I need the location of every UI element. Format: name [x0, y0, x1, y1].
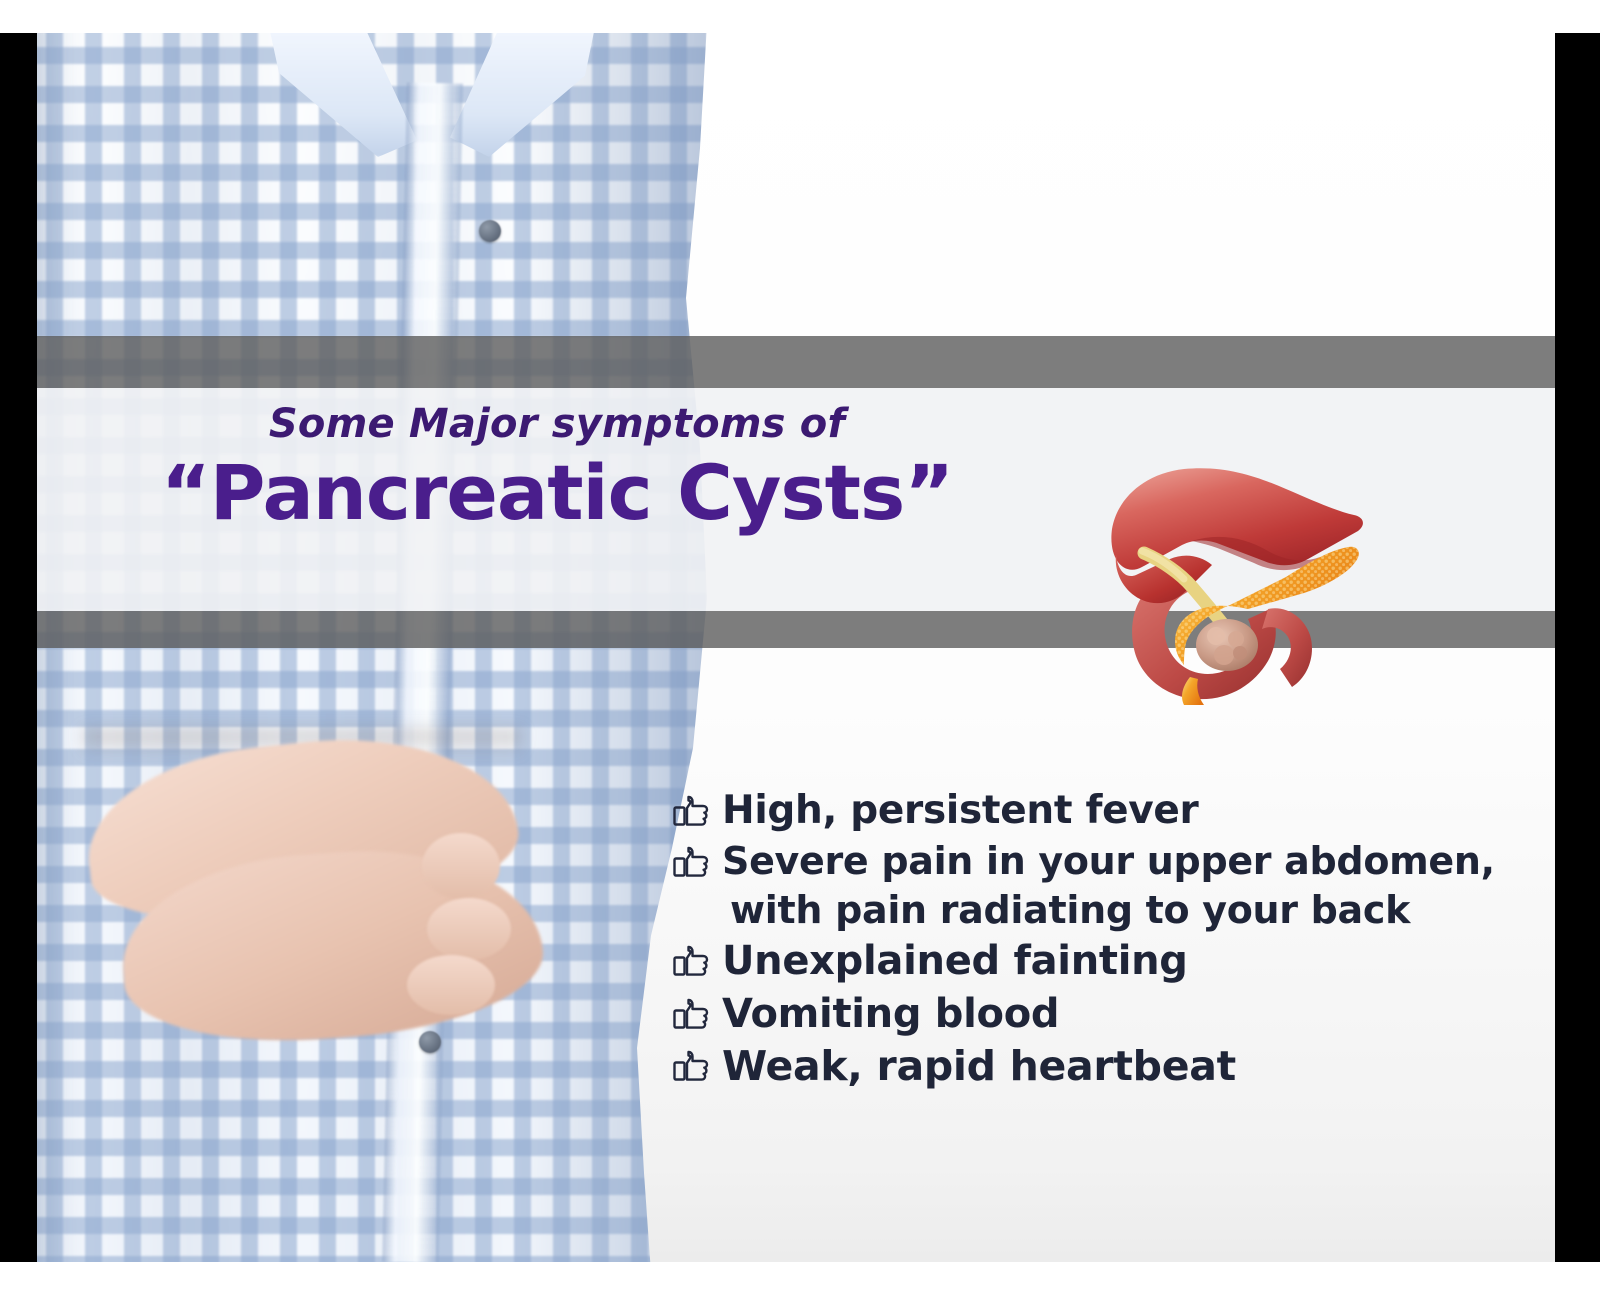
symptom-label: Severe pain in your upper abdomen,: [722, 839, 1495, 883]
collar-wing-right: [447, 33, 597, 157]
symptom-continuation: with pain radiating to your back: [730, 888, 1552, 932]
symptom-label: Weak, rapid heartbeat: [722, 1043, 1236, 1091]
banner-title-block: Some Major symptoms of “Pancreatic Cysts…: [37, 401, 1077, 535]
thumbs-up-icon: [672, 839, 716, 884]
infographic-frame: Some Major symptoms of “Pancreatic Cysts…: [37, 33, 1555, 1262]
cyst-nodule-shape: [1196, 619, 1258, 671]
list-item: Vomiting blood: [672, 991, 1552, 1037]
knuckle-1: [422, 833, 500, 899]
list-item: Severe pain in your upper abdomen,: [672, 839, 1552, 884]
symptom-label: Vomiting blood: [722, 991, 1059, 1037]
thumbs-up-icon: [672, 788, 716, 833]
knuckle-3: [407, 955, 495, 1015]
thumbs-up-icon: [672, 1043, 716, 1088]
title-subtitle: Some Major symptoms of: [37, 401, 1077, 447]
symptoms-list: High, persistent fever Severe pain in yo…: [672, 788, 1552, 1097]
collar-wing-left: [267, 33, 417, 157]
shirt-button-top: [479, 220, 501, 242]
clasped-hands: [37, 723, 547, 1053]
list-item: Weak, rapid heartbeat: [672, 1043, 1552, 1091]
page-title: “Pancreatic Cysts”: [37, 451, 1077, 535]
thumbs-up-icon: [672, 991, 716, 1036]
symptom-label: Unexplained fainting: [722, 938, 1188, 984]
knuckle-2: [427, 898, 511, 960]
symptom-label: High, persistent fever: [722, 788, 1198, 833]
list-item: High, persistent fever: [672, 788, 1552, 833]
banner-bar-top: [37, 336, 1555, 388]
thumbs-up-icon: [672, 938, 716, 983]
screenshot-stage: Some Major symptoms of “Pancreatic Cysts…: [0, 0, 1600, 1306]
liver-pancreas-icon: [1072, 433, 1372, 713]
list-item: Unexplained fainting: [672, 938, 1552, 984]
